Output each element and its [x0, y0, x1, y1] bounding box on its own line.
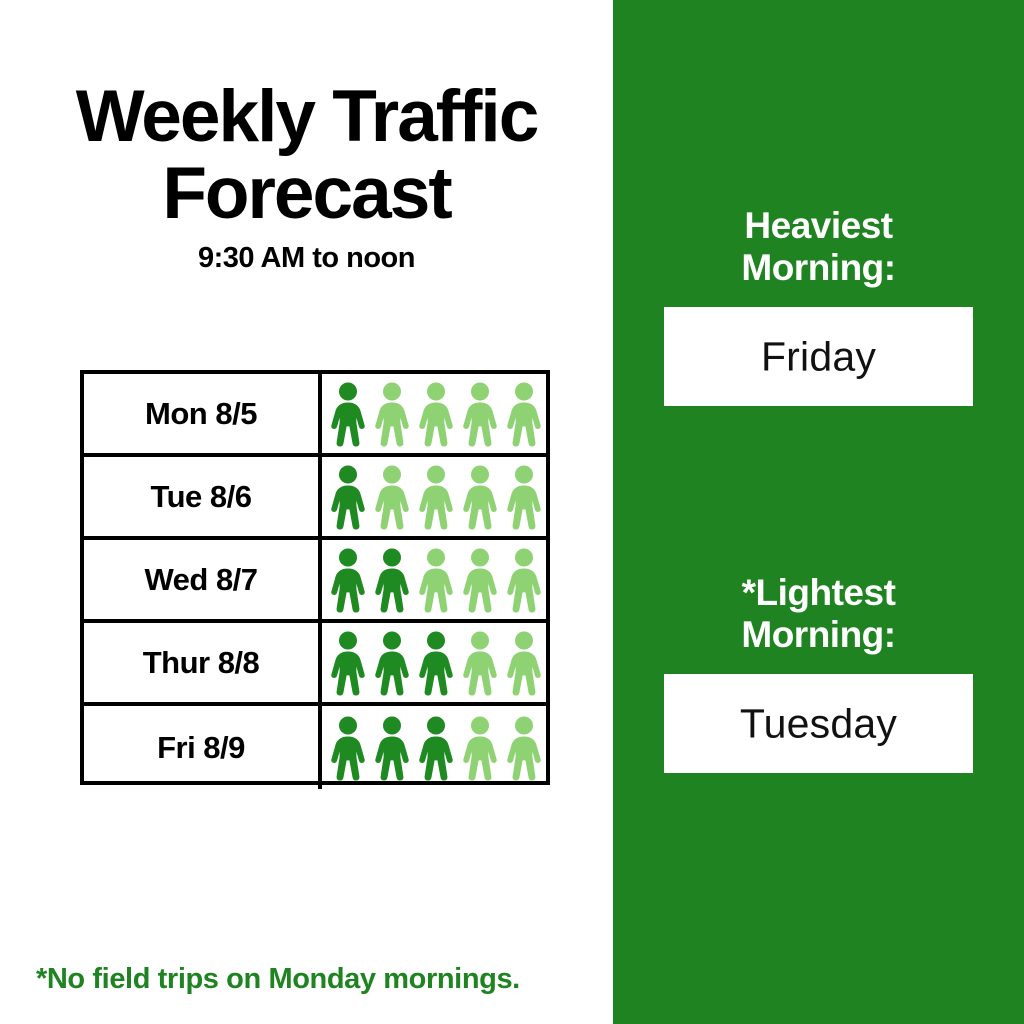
- person-icon-filled: [372, 715, 412, 781]
- lightest-morning-block: *Lightest Morning: Tuesday: [613, 572, 1024, 773]
- person-icon-filled: [328, 630, 368, 696]
- day-label: Mon 8/5: [84, 374, 322, 453]
- person-icon-filled: [372, 630, 412, 696]
- forecast-table: Mon 8/5 Tue 8/6 Wed 8/7 Thur 8/8 Fri 8/9: [80, 370, 550, 785]
- heaviest-morning-answer-box: Friday: [664, 307, 973, 406]
- heaviest-morning-answer: Friday: [664, 333, 973, 380]
- page-title: Weekly Traffic Forecast: [0, 78, 613, 232]
- table-row: Tue 8/6: [84, 457, 546, 540]
- person-icon-empty: [460, 630, 500, 696]
- table-row: Wed 8/7: [84, 540, 546, 623]
- lightest-morning-heading: *Lightest Morning:: [613, 572, 1024, 656]
- heaviest-morning-heading: Heaviest Morning:: [613, 205, 1024, 289]
- person-icon-filled: [328, 715, 368, 781]
- table-row: Fri 8/9: [84, 706, 546, 789]
- traffic-pictogram-cell: [322, 706, 550, 789]
- person-icon-filled: [328, 464, 368, 530]
- day-label: Wed 8/7: [84, 540, 322, 619]
- page-subtitle: 9:30 AM to noon: [0, 242, 613, 275]
- person-icon-empty: [504, 547, 544, 613]
- person-icon-empty: [504, 715, 544, 781]
- person-icon-empty: [460, 547, 500, 613]
- person-icon-filled: [372, 547, 412, 613]
- table-row: Thur 8/8: [84, 623, 546, 706]
- infographic-poster: Weekly Traffic Forecast 9:30 AM to noon …: [0, 0, 1024, 1024]
- day-label: Fri 8/9: [84, 706, 322, 789]
- person-icon-empty: [460, 381, 500, 447]
- footnote-text: *No field trips on Monday mornings.: [36, 963, 520, 996]
- person-icon-empty: [460, 715, 500, 781]
- person-icon-filled: [416, 630, 456, 696]
- person-icon-empty: [416, 547, 456, 613]
- table-row: Mon 8/5: [84, 374, 546, 457]
- traffic-pictogram-cell: [322, 374, 550, 453]
- day-label: Thur 8/8: [84, 623, 322, 702]
- lightest-morning-answer-box: Tuesday: [664, 674, 973, 773]
- person-icon-empty: [416, 381, 456, 447]
- person-icon-empty: [504, 464, 544, 530]
- person-icon-filled: [416, 715, 456, 781]
- person-icon-filled: [328, 381, 368, 447]
- person-icon-filled: [328, 547, 368, 613]
- traffic-pictogram-cell: [322, 623, 550, 702]
- person-icon-empty: [460, 464, 500, 530]
- person-icon-empty: [504, 381, 544, 447]
- lightest-morning-answer: Tuesday: [664, 700, 973, 747]
- title-block: Weekly Traffic Forecast 9:30 AM to noon: [0, 78, 613, 275]
- summary-panel: Heaviest Morning: Friday *Lightest Morni…: [613, 0, 1024, 1024]
- person-icon-empty: [372, 464, 412, 530]
- person-icon-empty: [416, 464, 456, 530]
- day-label: Tue 8/6: [84, 457, 322, 536]
- person-icon-empty: [504, 630, 544, 696]
- heaviest-morning-block: Heaviest Morning: Friday: [613, 205, 1024, 406]
- traffic-pictogram-cell: [322, 457, 550, 536]
- person-icon-empty: [372, 381, 412, 447]
- traffic-pictogram-cell: [322, 540, 550, 619]
